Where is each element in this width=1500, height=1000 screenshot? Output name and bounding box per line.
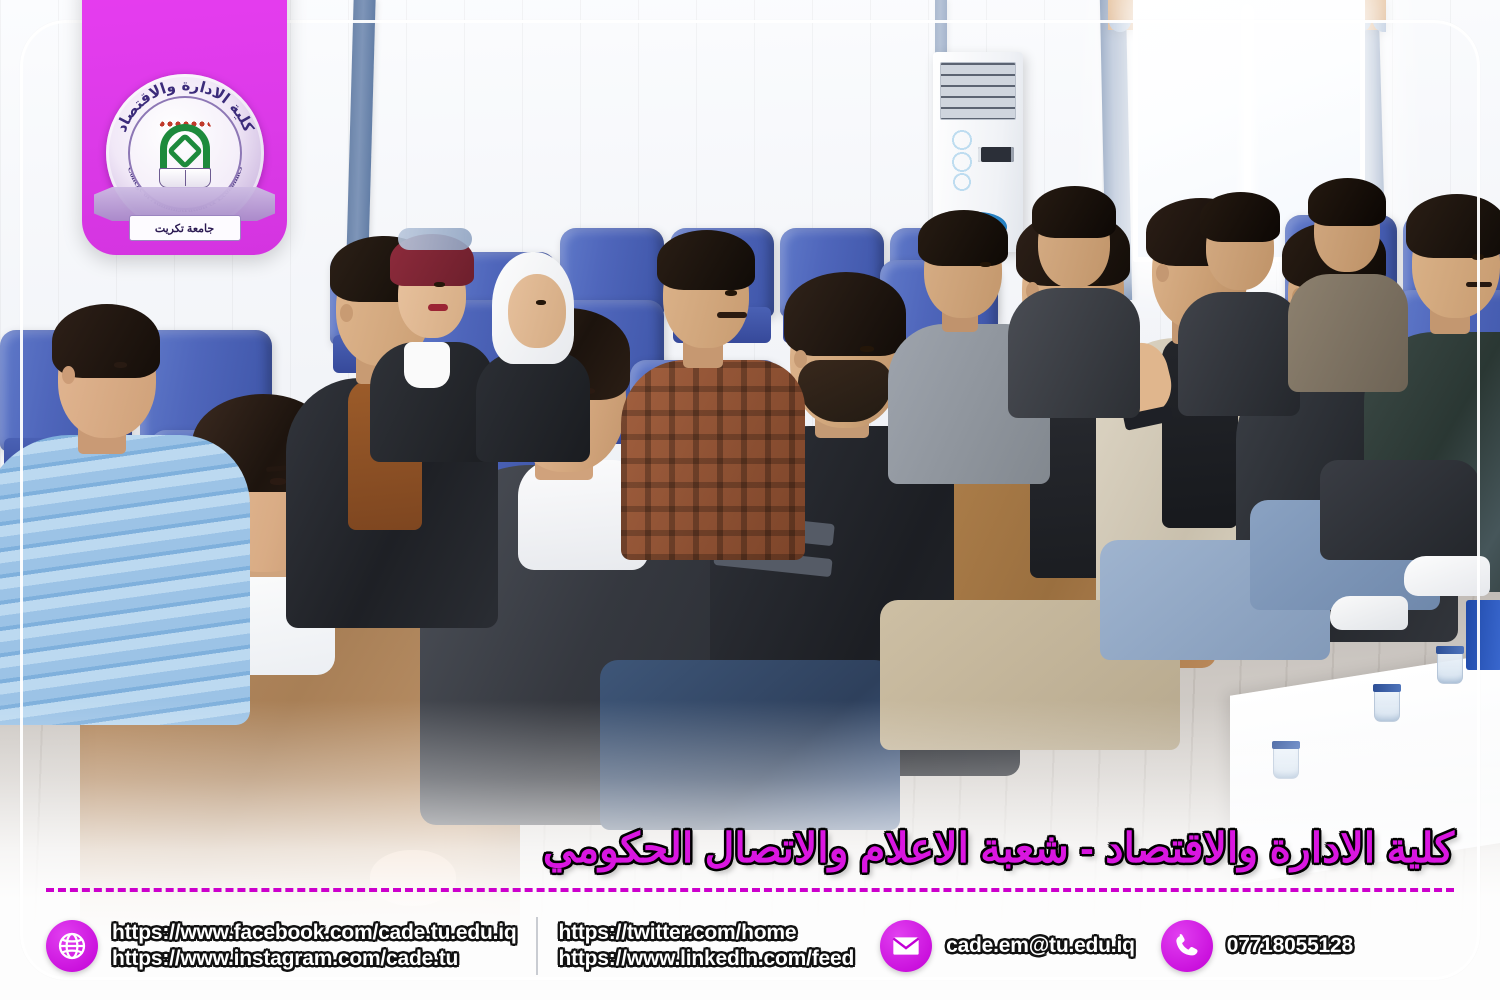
seal-ribbon-label: جامعة تكريت bbox=[129, 215, 241, 241]
banner-title: كلية الادارة والاقتصاد - شعبة الاعلام وا… bbox=[543, 824, 1454, 872]
envelope-icon[interactable] bbox=[880, 920, 932, 972]
attendee-person bbox=[1180, 196, 1300, 386]
poster-canvas: Midea bbox=[0, 0, 1500, 1000]
phone-number[interactable]: 07718055128 bbox=[1227, 934, 1353, 958]
attendee-person bbox=[1290, 182, 1408, 362]
footer-divider bbox=[536, 917, 538, 975]
footer-group-phone: 07718055128 bbox=[1161, 920, 1353, 972]
instagram-link[interactable]: https://www.instagram.com/cade.tu bbox=[112, 947, 516, 971]
ac-decor bbox=[947, 130, 977, 192]
attendee-shoe bbox=[1330, 596, 1408, 630]
attendee-shoe bbox=[1404, 556, 1490, 596]
water-cup bbox=[1437, 650, 1463, 684]
attendee-legs bbox=[1320, 460, 1480, 560]
contact-footer: https://www.facebook.com/cade.tu.edu.iq … bbox=[46, 896, 1460, 996]
footer-group-social-2: https://twitter.com/home https://www.lin… bbox=[558, 921, 854, 971]
university-name: جامعة تكريت bbox=[155, 222, 214, 235]
ac-grille bbox=[940, 62, 1016, 120]
footer-group-social: https://www.facebook.com/cade.tu.edu.iq … bbox=[46, 920, 516, 972]
social-links-2: https://twitter.com/home https://www.lin… bbox=[558, 921, 854, 971]
dashed-divider bbox=[46, 888, 1454, 892]
attendee-person bbox=[372, 230, 492, 430]
twitter-link[interactable]: https://twitter.com/home bbox=[558, 921, 854, 945]
footer-group-email: cade.em@tu.edu.iq bbox=[880, 920, 1135, 972]
attendee-person bbox=[625, 232, 805, 532]
globe-icon[interactable] bbox=[46, 920, 98, 972]
attendee-person bbox=[478, 248, 588, 428]
blue-container bbox=[1466, 600, 1500, 670]
college-logo-badge: كلية الادارة والاقتصاد College of Admini… bbox=[82, 0, 287, 255]
ac-control-panel bbox=[978, 147, 1014, 162]
social-links: https://www.facebook.com/cade.tu.edu.iq … bbox=[112, 921, 516, 971]
attendee-person bbox=[1010, 188, 1140, 388]
facebook-link[interactable]: https://www.facebook.com/cade.tu.edu.iq bbox=[112, 921, 516, 945]
email-address[interactable]: cade.em@tu.edu.iq bbox=[946, 934, 1135, 958]
attendee-person bbox=[0, 290, 260, 720]
phone-icon[interactable] bbox=[1161, 920, 1213, 972]
seal-book-icon bbox=[159, 168, 211, 188]
linkedin-link[interactable]: https://www.linkedin.com/feed bbox=[558, 947, 854, 971]
wall-pillar bbox=[935, 0, 947, 60]
